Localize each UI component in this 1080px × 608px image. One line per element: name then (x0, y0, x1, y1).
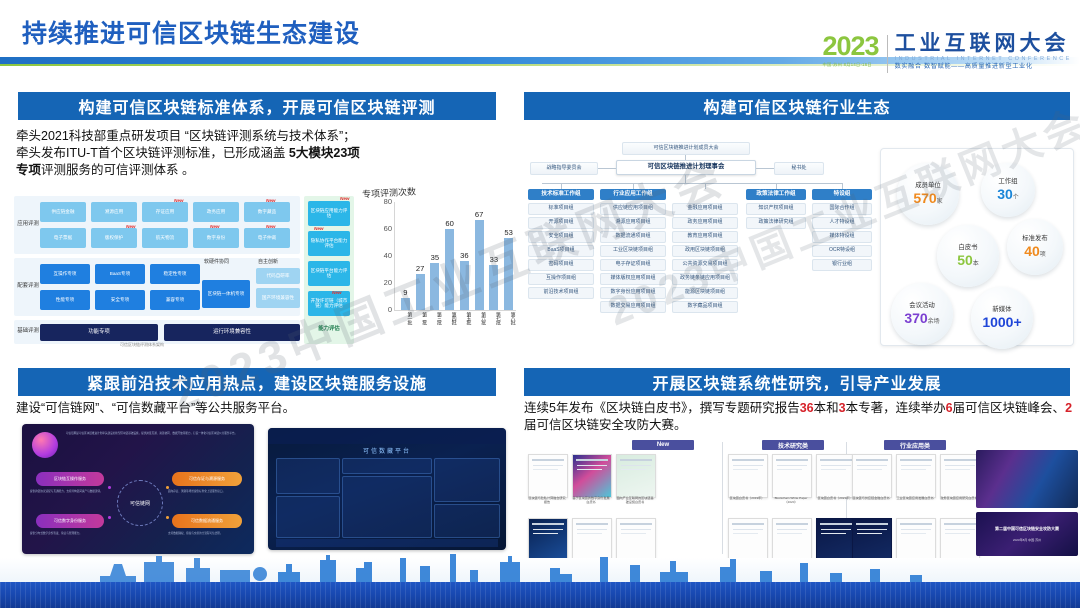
org-line-bus (542, 183, 842, 184)
eval-support-extra-left: 区块链一体机专项 (202, 280, 250, 308)
org-secretariat: 秘书处 (774, 162, 824, 175)
stat-value-wrap-4: 370余场 (904, 311, 939, 326)
standards-highlight-modules: 5大模块23项 (289, 146, 360, 160)
eval-support2-cell-1: 安全专项 (95, 290, 145, 310)
chart-value-label-7: 53 (499, 228, 519, 237)
publication-new-caption-0: 区块链与隐私计算融合研究报告 (528, 497, 566, 504)
org-group-item-2-5: 政务链条链应用项目组 (672, 273, 738, 285)
eval-app-cell-0: 供应链金融 (40, 202, 86, 222)
chart-x-label-6: 第七批 (488, 312, 500, 324)
feature-desc-1: 提供跨链协议适配与互通能力，支持异构链间资产与数据流转。 (30, 490, 108, 493)
screenshot-collection-platform[interactable]: 可信数藏平台 (268, 428, 506, 550)
stat-value-3: 40 (1024, 244, 1040, 259)
chart-x-label-1: 第二批 (414, 312, 426, 324)
org-group-header-4: 特设组 (812, 189, 872, 200)
event-photo-competition[interactable]: 第二届中国可信区块链安全攻防大赛2023年8月 中国·苏州 (976, 512, 1078, 556)
stat-value-5: 1000+ (982, 315, 1021, 330)
research-text-part-7: 2 (1065, 401, 1072, 415)
stat-bubble-3: 标准发布40项 (1007, 219, 1063, 275)
stat-value-wrap-5: 1000+ (982, 315, 1021, 330)
eval-app-cell-1: 溯源应用 (91, 202, 137, 222)
org-group-item-0-4: 密码项目组 (528, 259, 594, 271)
org-group-header-1: 行业应用工作组 (600, 189, 666, 200)
stat-value-1: 30 (997, 187, 1013, 202)
chart-x-label-4: 第五批 (458, 312, 470, 324)
chart-x-axis (394, 310, 516, 311)
publication-new-thumb-0[interactable] (528, 454, 568, 498)
platform-name: 可信链网 (130, 500, 150, 507)
eval-capability-item-0: 区块链应用能力评估 (308, 201, 350, 226)
eval-capability-item-1: 隐私协作平台能力评估 (308, 231, 350, 256)
eval-app-cell-3: 政务应用 (193, 202, 239, 222)
footer-sea (0, 582, 1080, 608)
org-group-item-0-0: 标准项目组 (528, 203, 594, 215)
org-line-strategy (598, 168, 616, 169)
eval-support-extra-header-right: 自主创新 (258, 258, 278, 265)
research-text-part-4: 本专著，连续举办 (846, 401, 946, 415)
eval-app-cell-4: 数字藏品 (244, 202, 290, 222)
eval-row-label-1: 配套评测 (14, 258, 42, 316)
panel-body-research: 连续5年发布《区块链白皮书》，撰写专题研究报告36本和3本专著，连续举办6届可信… (524, 400, 1072, 434)
eval-app2-cell-4: 电子仲裁 (244, 228, 290, 248)
panel-title-standards: 构建可信区块链标准体系，开展可信区块链评测 (18, 92, 496, 120)
chart-bar-7 (504, 238, 513, 310)
eval-new-badge-1: New (266, 198, 275, 203)
chart-x-label-2: 第三批 (429, 312, 441, 324)
org-group-item-1-1: 溯源应用项目组 (600, 217, 666, 229)
research-text-part-6: 届可信区块链峰会、 (953, 401, 1066, 415)
chart-bar-1 (416, 274, 425, 310)
org-group-item-1-3: 工业区块链项目组 (600, 245, 666, 257)
chart-value-label-6: 33 (484, 255, 504, 264)
chart-y-tick-80: 80 (376, 197, 392, 206)
eval-support-extra-right-2: 国产环境兼容性 (256, 288, 300, 308)
chart-y-tick-40: 40 (376, 251, 392, 260)
publication-industry-caption-2: 政务区块链应用研究白皮书 (940, 497, 978, 501)
stat-bubble-0: 成员单位570家 (897, 163, 959, 225)
org-line-col-2 (705, 183, 706, 189)
publication-tech-caption-1: Blockchain White Paper（2020） (772, 497, 810, 504)
stat-unit-0: 家 (937, 199, 943, 205)
org-strategy-committee: 战略指导委员会 (530, 162, 598, 175)
dashboard-topbar (268, 428, 506, 444)
panel-title-ecosystem: 构建可信区块链行业生态 (524, 92, 1070, 120)
chart-y-tick-60: 60 (376, 224, 392, 233)
eval-new-badge-5: New (340, 196, 349, 201)
dashboard-card-4 (434, 504, 500, 538)
org-group-item-1-2: 数据流通项目组 (600, 231, 666, 243)
feature-pill-3[interactable]: 可信数字身份服务 (36, 514, 104, 528)
org-group-item-2-7: 数字藏品项目组 (672, 301, 738, 313)
org-group-item-4-4: 银行业组 (812, 259, 872, 271)
publication-new-caption-2: 面向产业互联网的区块链基础设施白皮书 (616, 497, 654, 504)
org-council: 可信区块链推进计划理事会 (616, 160, 756, 175)
chart-value-label-5: 67 (469, 210, 489, 219)
slide-root: 持续推进可信区块链生态建设 2023 中国·苏州 8月14日-16日 工业互联网… (0, 0, 1080, 608)
org-group-item-2-2: 教育应用项目组 (672, 231, 738, 243)
logo-year-subtitle: 中国·苏州 8月14日-16日 (822, 63, 878, 67)
event-caption-1: 第二届中国可信区块链安全攻防大赛 (976, 526, 1078, 532)
org-group-item-1-7: 数据交易应用项目组 (600, 301, 666, 313)
feature-desc-3: 提供分布式数字身份签发、验证与管理能力。 (30, 532, 108, 535)
chart-x-label-0: 第一批 (399, 312, 411, 324)
eval-row-label-0: 应用评测 (14, 196, 42, 254)
org-group-item-0-5: 互操作项目组 (528, 273, 594, 285)
org-group-item-3-0: 知识产权项目组 (746, 203, 806, 215)
stat-value-0: 570 (913, 191, 936, 206)
center-ring: 可信链网 (117, 480, 163, 526)
chart-value-label-0: 9 (395, 288, 415, 297)
stat-unit-2: 本 (973, 261, 979, 267)
publication-industry-thumb-0[interactable] (852, 454, 892, 498)
org-group-item-2-0: 金融应用项目组 (672, 203, 738, 215)
dashboard-title: 可信数藏平台 (268, 446, 506, 455)
publication-new-caption-1: 基于区块链的数字身份发展白皮书 (572, 497, 610, 504)
research-text-part-0: 连续5年发布《区块链白皮书》，撰写专题研究报告 (524, 401, 800, 415)
stat-label-4: 会议活动 (909, 303, 935, 310)
eval-support2-cell-2: 兼容专项 (150, 290, 200, 310)
dashboard-chart-main (342, 476, 432, 538)
eval-new-badge-3: New (210, 224, 219, 229)
chart-x-label-3: 第四批 (444, 312, 456, 324)
org-line-assembly (685, 155, 686, 160)
publications-category-tech: 技术研究类 (762, 440, 824, 450)
research-text-part-1: 36 (800, 401, 814, 415)
chart-x-label-7: 第八批 (503, 312, 515, 324)
eval-new-badge-0: New (174, 198, 183, 203)
standards-highlight-special: 专项 (16, 163, 41, 177)
logo-text-block: 工业互联网大会 INDUSTRIAL INTERNET CONFERENCE 数… (895, 33, 1072, 71)
publications-collage: New技术研究类行业应用类区块链与隐私计算融合研究报告基于区块链的数字身份发展白… (524, 440, 1080, 558)
org-group-item-0-3: BaaS项目组 (528, 245, 594, 257)
organization-chart: 可信区块链推进计划成员大会战略指导委员会可信区块链推进计划理事会秘书处技术标准工… (524, 140, 876, 346)
org-line-secretariat (756, 168, 774, 169)
org-group-item-1-4: 电子存证项目组 (600, 259, 666, 271)
collage-divider-1 (722, 442, 723, 554)
logo-title-en: INDUSTRIAL INTERNET CONFERENCE (895, 57, 1072, 62)
platform-logo-icon (32, 432, 58, 458)
publication-tech-thumb-1[interactable] (772, 454, 812, 498)
org-group-header-3: 政策法律工作组 (746, 189, 806, 200)
chart-bar-2 (430, 263, 439, 310)
stat-label-2: 白皮书 (958, 245, 977, 252)
diagram-caption: 可信区块链评测体系架构 (120, 342, 164, 348)
ecosystem-stats-panel: 成员单位570家工作组30个白皮书50本标准发布40项会议活动370余场新媒体1… (880, 148, 1074, 346)
stat-label-0: 成员单位 (915, 183, 941, 190)
eval-support-extra-header-left: 软硬件协同 (204, 258, 229, 265)
stat-label-5: 新媒体 (992, 307, 1011, 314)
org-group-item-4-2: 媒体特设组 (812, 231, 872, 243)
panel-body-infrastructure: 建设“可信链网”、“可信数藏平台”等公共服务平台。 (16, 400, 506, 417)
panel-title-research: 开展区块链系统性研究，引导产业发展 (524, 368, 1070, 396)
feature-pill-2[interactable]: 可信存证与溯源服务 (172, 472, 242, 486)
chart-bar-6 (489, 265, 498, 310)
eval-capability-item-2: 区块链平台能力评估 (308, 261, 350, 286)
eval-app2-cell-0: 电子票据 (40, 228, 86, 248)
eval-support-cell-0: 互操作专项 (40, 264, 90, 284)
org-group-item-4-0: 国际合作组 (812, 203, 872, 215)
feature-pill-4[interactable]: 可信数据流通服务 (172, 514, 242, 528)
dashboard-footer-bar (276, 539, 498, 547)
chart-bar-4 (460, 261, 469, 310)
industry-machinery-icon (100, 550, 290, 582)
screenshot-trusted-chain-network[interactable]: 可信链网是可信区块链推进计划牵头建设的新型区块链基础设施，提供跨链互通、资源协同… (22, 424, 254, 554)
eval-capability-item-3: 开放许可链（城市链）能力评估 (308, 291, 350, 316)
eval-support2-cell-0: 性能专项 (40, 290, 90, 310)
eval-app-cell-2: 存证应用 (142, 202, 188, 222)
chart-bar-3 (445, 229, 454, 310)
research-text-part-8: 届可信区块链安全攻防大赛。 (524, 418, 687, 432)
org-group-item-0-2: 安全项目组 (528, 231, 594, 243)
publication-new-thumb-1[interactable] (572, 454, 612, 498)
eval-capability-header: 能力评估 (308, 324, 350, 332)
dashboard-card-2 (276, 496, 340, 538)
publication-tech-thumb-0[interactable] (728, 454, 768, 498)
research-text-part-3: 3 (839, 401, 846, 415)
chart-value-label-4: 36 (454, 251, 474, 260)
publications-category-industry: 行业应用类 (884, 440, 946, 450)
standards-line-1: 牵头2021科技部重点研发项目 “区块链评测系统与技术体系”； (16, 128, 506, 145)
stat-bubble-4: 会议活动370余场 (891, 283, 953, 345)
eval-basic-cell-1: 运行环境兼容性 (164, 324, 300, 341)
evaluation-framework-diagram: 应用评测配套评测基础评测供应链金融溯源应用存证应用政务应用数字藏品电子票据版权保… (14, 196, 354, 346)
panel-title-infrastructure: 紧跟前沿技术应用热点，建设区块链服务设施 (18, 368, 496, 396)
connector-dot-2 (166, 486, 169, 489)
org-group-item-3-1: 政策法律研究组 (746, 217, 806, 229)
page-title: 持续推进可信区块链生态建设 (22, 14, 360, 50)
connector-dot-3 (108, 516, 111, 519)
feature-desc-2: 面向存证、溯源等场景提供标准化上链服务接口。 (168, 490, 246, 493)
dashboard-filter-row[interactable] (342, 458, 432, 474)
chart-bar-0 (401, 298, 410, 310)
conference-logo: 2023 中国·苏州 8月14日-16日 工业互联网大会 INDUSTRIAL … (822, 33, 1072, 75)
feature-pill-1[interactable]: 区块链互操作服务 (36, 472, 104, 486)
org-group-item-2-1: 政务应用项目组 (672, 217, 738, 229)
standards-line-2-text: 牵头发布ITU-T首个区块链评测标准，已形成涵盖 (16, 146, 289, 160)
publication-tech-thumb-2[interactable] (816, 454, 856, 498)
publication-industry-thumb-1[interactable] (896, 454, 936, 498)
stat-bubble-2: 白皮书50本 (937, 225, 999, 287)
feature-desc-4: 支持数据确权、授权与交易的全流程可信治理。 (168, 532, 246, 535)
org-group-header-0: 技术标准工作组 (528, 189, 594, 200)
logo-tagline: 数实融合 数智赋能——高质量推进新型工业化 (895, 64, 1072, 70)
stat-value-wrap-1: 30个 (997, 187, 1019, 202)
logo-year: 2023 (822, 33, 878, 60)
event-caption-2: 2023年8月 中国·苏州 (976, 538, 1078, 542)
org-group-item-2-3: 政用区块链项目组 (672, 245, 738, 257)
org-group-item-1-0: 供应链应用项目组 (600, 203, 666, 215)
org-group-item-2-6: 能源区块链项目组 (672, 287, 738, 299)
org-group-item-1-6: 数字身份应用项目组 (600, 287, 666, 299)
publication-tech-caption-2: 区块链白皮书（2021年） (816, 497, 854, 501)
stat-bubble-1: 工作组30个 (981, 163, 1035, 217)
publication-tech-caption-0: 区块链白皮书（2019年） (728, 497, 766, 501)
publications-category-new: New (632, 440, 694, 450)
stat-label-3: 标准发布 (1022, 236, 1048, 243)
eval-support-cell-1: BaaS专项 (95, 264, 145, 284)
platform-intro-text: 可信链网是可信区块链推进计划牵头建设的新型区块链基础设施，提供跨链互通、资源协同… (66, 432, 244, 435)
logo-title-cn: 工业互联网大会 (895, 33, 1072, 54)
stat-value-2: 50 (957, 253, 973, 268)
standards-line-2: 牵头发布ITU-T首个区块链评测标准，已形成涵盖 5大模块23项 (16, 145, 506, 162)
research-text-part-5: 6 (946, 401, 953, 415)
stat-label-1: 工作组 (998, 179, 1017, 186)
logo-divider (887, 35, 888, 73)
publication-industry-thumb-2[interactable] (940, 454, 980, 498)
chart-y-tick-20: 20 (376, 278, 392, 287)
chart-x-label-5: 第六批 (473, 312, 485, 324)
eval-support-extra-right-1: 代码自研率 (256, 268, 300, 284)
stat-value-wrap-3: 40项 (1024, 244, 1046, 259)
org-line-down (685, 175, 686, 183)
eval-new-badge-2: New (126, 224, 135, 229)
stat-unit-3: 项 (1040, 252, 1046, 258)
eval-support-cell-2: 稳定性专项 (150, 264, 200, 284)
stat-unit-4: 余场 (928, 319, 940, 325)
eval-app2-cell-1: 版权保护 (91, 228, 137, 248)
chart-y-tick-0: 0 (376, 305, 392, 314)
eval-new-badge-4: New (266, 224, 275, 229)
stat-value-4: 370 (904, 311, 927, 326)
eval-app2-cell-3: 数字身份 (193, 228, 239, 248)
connector-dot-4 (166, 516, 169, 519)
dashboard-card-1 (276, 458, 340, 494)
standards-line-3: 专项评测服务的可信评测体系 。 (16, 162, 506, 179)
org-group-item-1-5: 媒体版权应用项目组 (600, 273, 666, 285)
chart-value-label-2: 35 (425, 253, 445, 262)
chart-value-label-3: 60 (440, 219, 460, 228)
dashboard-card-3 (434, 458, 500, 502)
logo-year-block: 2023 中国·苏州 8月14日-16日 (822, 33, 886, 67)
stat-value-wrap-0: 570家 (913, 191, 942, 206)
footer-band (0, 558, 1080, 608)
org-assembly: 可信区块链推进计划成员大会 (622, 142, 750, 155)
org-group-item-4-3: OCR特设组 (812, 245, 872, 257)
publication-industry-caption-1: 工业区块链应用发展白皮书 (896, 497, 934, 501)
org-group-item-2-4: 公共资源交易项目组 (672, 259, 738, 271)
org-group-item-0-1: 开源项目组 (528, 217, 594, 229)
publication-industry-caption-0: 区块链与供应链金融白皮书 (852, 497, 890, 501)
stat-bubble-5: 新媒体1000+ (971, 287, 1033, 349)
stat-unit-1: 个 (1013, 195, 1019, 201)
connector-dot-1 (108, 486, 111, 489)
eval-new-badge-6: New (314, 226, 323, 231)
city-skyline-icon (260, 552, 960, 582)
org-group-item-4-1: 人才特设组 (812, 217, 872, 229)
panel-body-standards: 牵头2021科技部重点研发项目 “区块链评测系统与技术体系”； 牵头发布ITU-… (16, 128, 506, 179)
publication-new-thumb-2[interactable] (616, 454, 656, 498)
eval-app2-cell-2: 航天物流 (142, 228, 188, 248)
event-photo-summit[interactable] (976, 450, 1078, 508)
stat-value-wrap-2: 50本 (957, 253, 979, 268)
eval-basic-cell-0: 功能专项 (40, 324, 158, 341)
special-evaluation-bar-chart: 专项评测次数 0204060809第一批27第二批35第三批60第四批36第五批… (352, 186, 520, 346)
org-group-item-0-6: 前沿技术项目组 (528, 287, 594, 299)
eval-row-label-2: 基础评测 (14, 320, 42, 344)
chart-value-label-1: 27 (410, 264, 430, 273)
research-text-part-2: 本和 (814, 401, 839, 415)
eval-new-badge-7: New (332, 290, 341, 295)
chart-bar-5 (475, 220, 484, 310)
standards-line-3-text: 评测服务的可信评测体系 。 (41, 163, 194, 177)
